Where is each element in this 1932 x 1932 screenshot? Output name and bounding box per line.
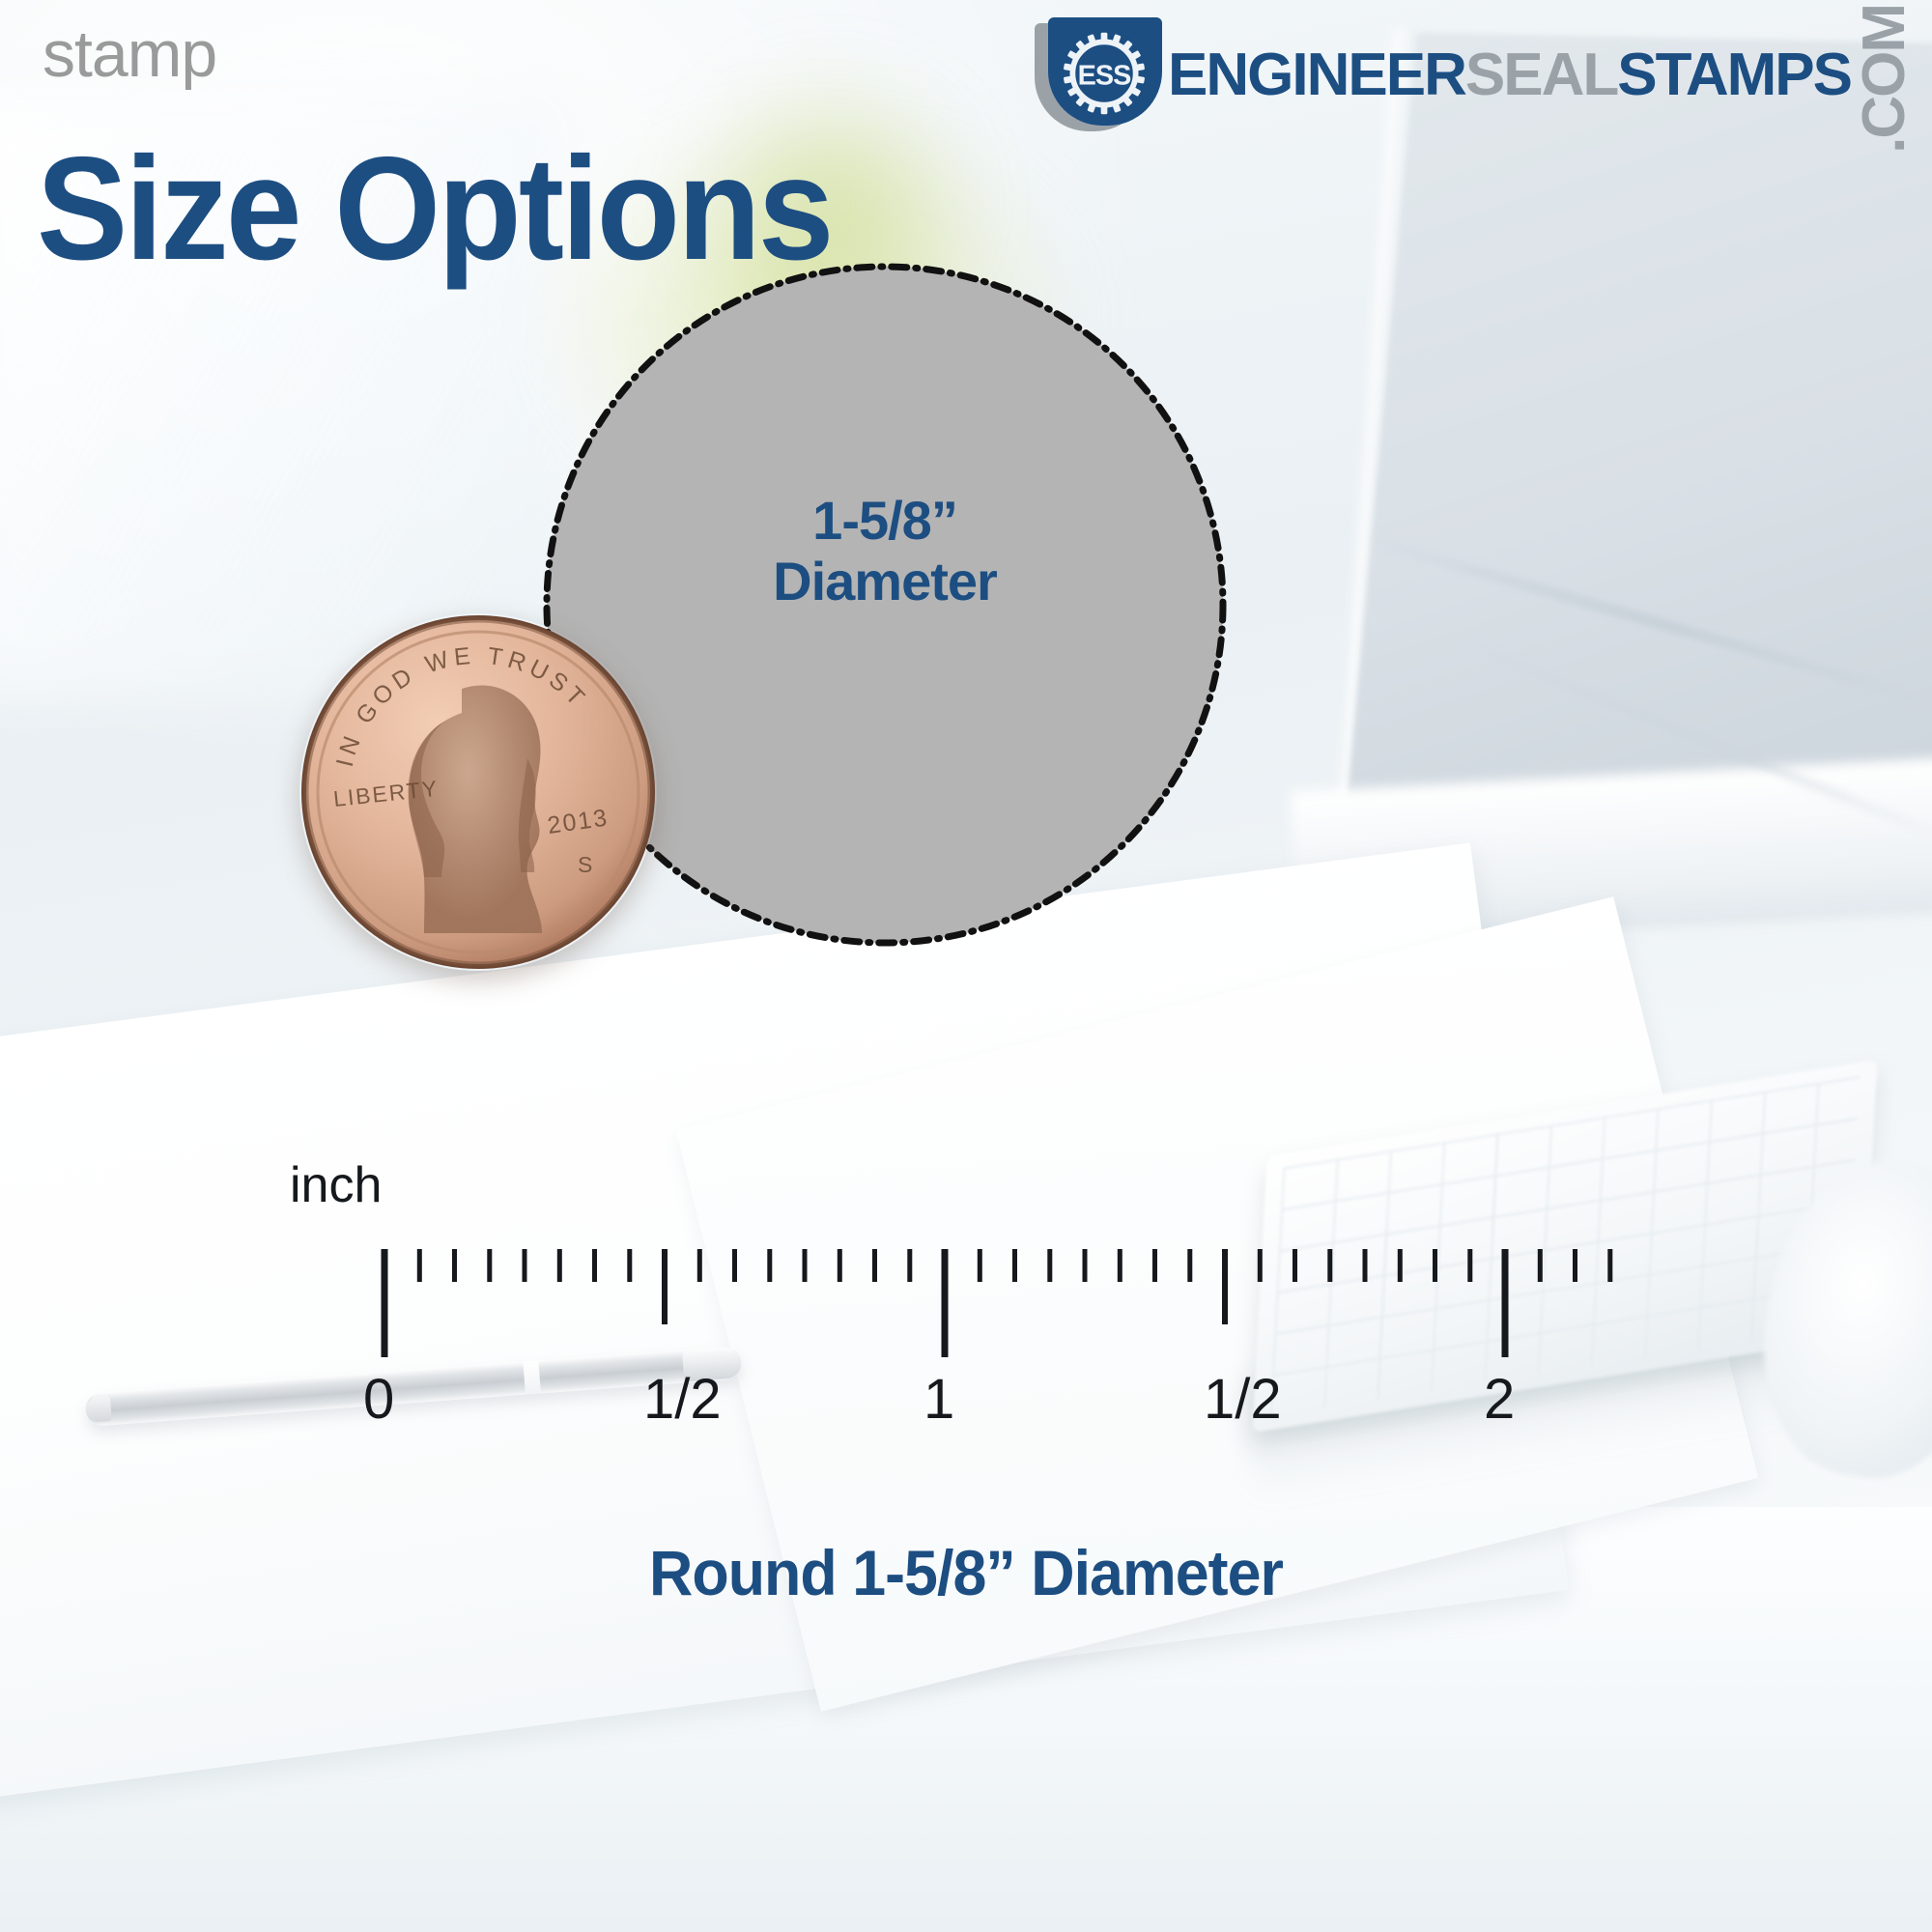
ruler-tick [1363,1249,1368,1282]
size-caption: Round 1-5/8” Diameter [48,1536,1884,1609]
ruler-tick [1398,1249,1403,1282]
wordmark-dotcom: .COM [1855,5,1915,154]
coin-mint-mark: S [578,852,592,877]
ruler-tick [487,1249,492,1282]
ruler-tick [1083,1249,1088,1282]
ruler-ticks [0,1212,1932,1367]
ruler-tick [557,1249,562,1282]
ruler-tick [1327,1249,1332,1282]
ruler-tick [803,1249,808,1282]
wordmark-stamps: STAMPS [1617,45,1851,105]
stamp-category-label: stamp [43,21,216,87]
ruler-tick [1433,1249,1437,1282]
ruler-tick [1047,1249,1052,1282]
ruler-tick [382,1249,388,1357]
ess-monogram: ESS [1078,61,1131,92]
wordmark-engineer: ENGINEER [1168,45,1465,105]
wordmark-seal: SEAL [1465,45,1617,105]
ruler-tick [417,1249,422,1282]
ruler-tick [1187,1249,1192,1282]
ruler-tick [1293,1249,1297,1282]
ruler-tick [1502,1249,1509,1357]
ruler-label: 2 [1484,1372,1515,1428]
ruler-tick [523,1249,527,1282]
ruler-tick [942,1249,949,1357]
ruler-tick [1258,1249,1263,1282]
gear-icon: ESS [1058,27,1151,120]
ruler-tick [767,1249,772,1282]
ruler-tick [1118,1249,1122,1282]
ruler-tick [907,1249,912,1282]
ruler-label: 1 [923,1372,954,1428]
ruler-tick [592,1249,597,1282]
ruler-tick [662,1249,668,1324]
ess-shield-icon: ESS [1035,17,1162,133]
ruler-label: 1/2 [1204,1372,1282,1428]
ruler-label: 0 [363,1372,394,1428]
content-layer: stamp Size Options [0,0,1932,1932]
ruler-tick [872,1249,877,1282]
ruler-tick [1012,1249,1017,1282]
sample-size-unit: Diameter [547,552,1223,612]
ruler-unit-label: inch [290,1156,382,1214]
ruler-tick [1538,1249,1543,1282]
ruler-tick [838,1249,842,1282]
inch-ruler: inch 01/211/22 [0,1212,1932,1463]
ruler-tick [697,1249,702,1282]
ruler-tick [452,1249,457,1282]
ruler-tick [627,1249,632,1282]
ess-wordmark: ENGINEER SEAL STAMPS .COM [1168,0,1915,154]
penny-coin-image: IN GOD WE TRUST LIBERTY 2013 S [299,613,657,971]
sample-size-label: 1-5/8” Diameter [547,491,1223,611]
ruler-label: 1/2 [643,1372,722,1428]
ess-logo[interactable]: ESS ENGINEER SEAL STAMPS .COM [1035,15,1915,135]
ruler-tick [1152,1249,1157,1282]
ruler-tick [1607,1249,1612,1282]
ruler-tick [1222,1249,1228,1324]
ruler-tick [978,1249,982,1282]
ruler-tick [1573,1249,1577,1282]
sample-size-value: 1-5/8” [547,491,1223,552]
ruler-tick [732,1249,737,1282]
ruler-tick [1467,1249,1472,1282]
